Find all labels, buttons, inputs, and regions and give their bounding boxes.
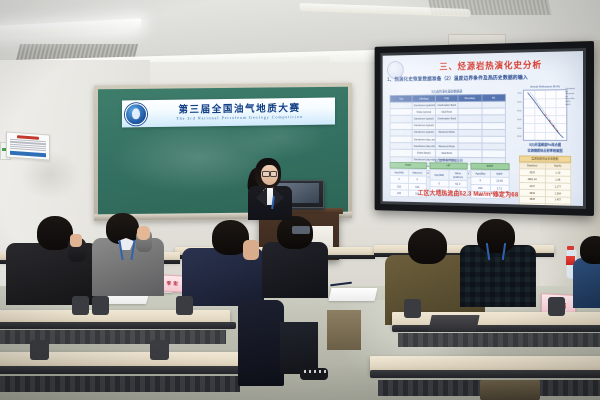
measured-ro-table: 实测镜质体反射率数据 Depth(m)Ro(%)42231.104891.441… [519, 155, 571, 206]
audience-legs-a8 [280, 322, 318, 374]
table-cell: J3 [390, 122, 412, 129]
ro-depth-plot: 1000 2000 3000 4000 5000 6000 [523, 89, 567, 141]
slide-title: 三、烃源岩热演化史分析 [409, 57, 575, 73]
desk-knob-4 [404, 299, 421, 318]
chart-caption-2: 实测镜质体反射率剖面图 [515, 149, 575, 154]
desk-row3-rail-right [370, 370, 600, 378]
audience-torso-a8 [238, 300, 284, 386]
desk-knob-7 [150, 340, 169, 360]
audience-head-a7 [580, 236, 600, 264]
legend-item-4: Well 2 [565, 104, 575, 107]
wall-notice-poster [6, 131, 50, 160]
banner-text-block: 第三届全国油气地质大赛 The 3rd National Petroleum G… [147, 103, 335, 121]
table-cell [435, 122, 458, 129]
desk-knob-2 [92, 296, 109, 315]
table-cell: Overburden Rock [435, 115, 458, 122]
desk-knob-5 [548, 297, 565, 316]
audience-torso-a6 [460, 245, 536, 307]
classroom-presentation-photo: 第三届全国油气地质大赛 The 3rd National Petroleum G… [0, 0, 600, 400]
desk-knob-3 [176, 296, 193, 315]
y-tick-5: 5000 [517, 128, 521, 130]
desk-row2-rail-right [392, 325, 600, 332]
measured-ro-body: Depth(m)Ro(%)42231.104891.441.0841471.17… [520, 162, 571, 206]
chart-caption-1: 3(3)井温梯度Ro拟合图 [515, 143, 575, 148]
y-tick-2: 2000 [517, 102, 521, 104]
boundary-col-label: Value (mW/m²) [448, 170, 467, 181]
table-cell [458, 115, 481, 122]
y-tick-3: 3000 [517, 110, 521, 112]
table-cell [482, 115, 506, 122]
tablet-on-desk [428, 315, 479, 331]
desk-row3-shelf-left [0, 376, 240, 392]
desk-row2-shelf-right [398, 333, 600, 347]
projected-slide: 三、烃源岩热演化史分析 1、热演化史恢复数据准备（2）温度边界条件及热历史数据的… [383, 51, 583, 206]
boundary-col-label: Age(Ma) [430, 169, 449, 180]
audience-hand-a1 [70, 234, 82, 247]
y-tick-1: 1000 [517, 93, 521, 95]
desk-knob-1 [72, 296, 89, 315]
bottle-cap-4 [567, 246, 574, 250]
glasses-icon [262, 171, 277, 175]
table-cell [458, 129, 481, 136]
table-cell [482, 129, 506, 136]
audience-head-a5 [408, 228, 447, 264]
slide-subtitle: 1、热演化史恢复数据准备（2）温度边界条件及热历史数据的输入 [387, 73, 577, 83]
name-card-left-text: 李 宏 [167, 280, 179, 287]
audience-head-a6 [477, 219, 515, 253]
y-tick-4: 4000 [517, 119, 521, 121]
audience-hand-a2 [137, 226, 150, 240]
table-row: J3Sandstone (typical) [390, 122, 505, 129]
audience-hand-a3 [243, 240, 259, 260]
desk-row2-rail-left [0, 322, 236, 329]
paper-stack-3 [328, 288, 377, 301]
desk-row3-rail-left [0, 366, 246, 374]
table-cell [482, 122, 506, 129]
shoe-stripes [304, 370, 326, 373]
audience-torso-a4 [262, 242, 328, 298]
folder-on-desk [480, 380, 540, 400]
table-cell: Sandstone (typical) [412, 122, 435, 129]
chart-curves [524, 90, 566, 140]
slide-chart-block: Vitrinite Reflectance (Ro%) 1000 2000 30… [515, 85, 575, 154]
chair-back-center [327, 310, 361, 350]
y-tick-6: 6000 [517, 136, 521, 138]
audience-glasses-a4 [292, 226, 310, 234]
audience-torso-a7 [573, 258, 600, 308]
table-cell [458, 122, 481, 129]
event-banner: 第三届全国油气地质大赛 The 3rd National Petroleum G… [122, 98, 335, 128]
desk-knob-6 [30, 340, 49, 360]
circular-emblem-icon [125, 103, 147, 125]
chart-legend: Calculated Ro Measured Ro Easy %Ro Well … [565, 88, 575, 106]
